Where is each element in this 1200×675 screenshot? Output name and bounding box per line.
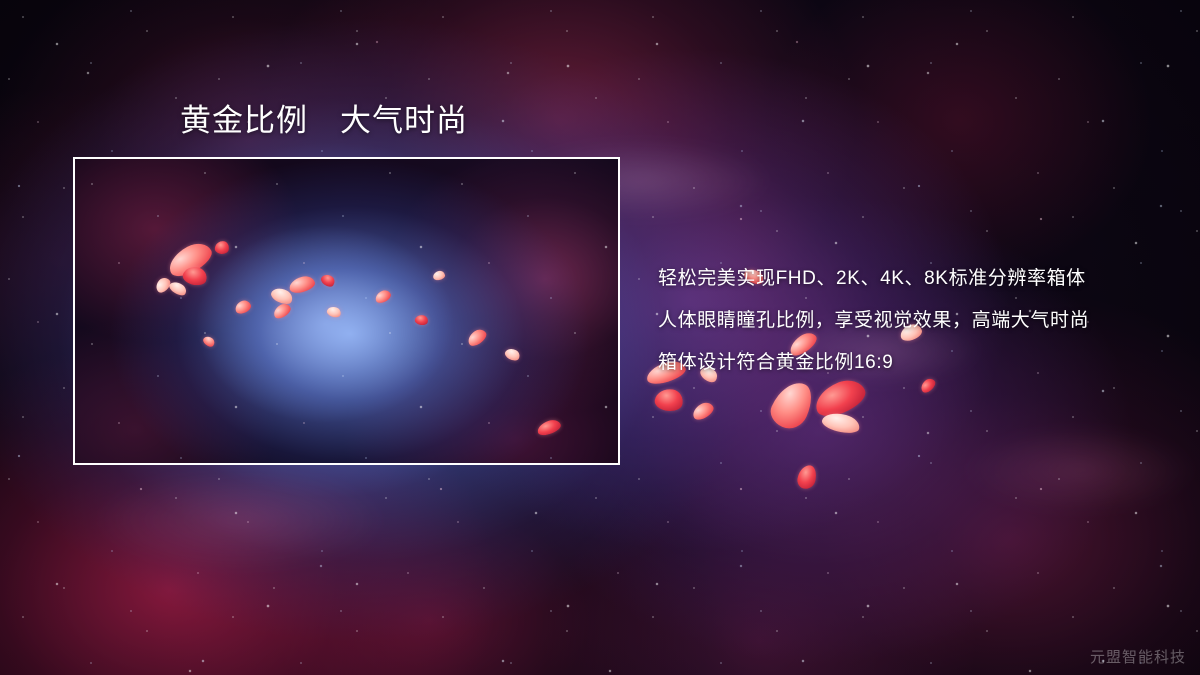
petal: [653, 387, 684, 414]
body-line-1: 轻松完美实现FHD、2K、4K、8K标准分辨率箱体: [658, 258, 1168, 300]
petal: [319, 272, 337, 289]
petal: [269, 285, 295, 307]
petal: [167, 279, 188, 298]
petal: [796, 463, 819, 490]
watermark-label: 元盟智能科技: [1090, 646, 1186, 667]
body-line-3: 箱体设计符合黄金比例16:9: [658, 342, 1168, 384]
petal: [536, 418, 563, 438]
petal: [690, 400, 716, 423]
petal: [326, 305, 343, 319]
petal: [271, 301, 293, 320]
petal: [288, 274, 317, 295]
petal: [820, 410, 861, 437]
framed-image-petals: [75, 159, 618, 463]
petal: [153, 275, 173, 295]
petal: [432, 270, 445, 281]
framed-preview-image: [73, 157, 620, 465]
page-title: 黄金比例 大气时尚: [180, 102, 468, 140]
petal: [181, 264, 209, 288]
petal: [233, 299, 252, 316]
presentation-slide: 黄金比例 大气时尚 轻松完美实现FHD、2K、4K、8K标准分辨率箱体 人体眼睛…: [0, 0, 1200, 675]
petal: [414, 314, 429, 326]
petal: [164, 238, 216, 282]
petal: [766, 376, 818, 434]
body-text-block: 轻松完美实现FHD、2K、4K、8K标准分辨率箱体 人体眼睛瞳孔比例，享受视觉效…: [658, 258, 1168, 384]
petal: [373, 288, 392, 305]
petal: [465, 327, 489, 349]
body-line-2: 人体眼睛瞳孔比例，享受视觉效果，高端大气时尚: [658, 300, 1168, 342]
petal: [214, 240, 230, 255]
petal: [503, 346, 521, 363]
petal: [202, 334, 217, 349]
